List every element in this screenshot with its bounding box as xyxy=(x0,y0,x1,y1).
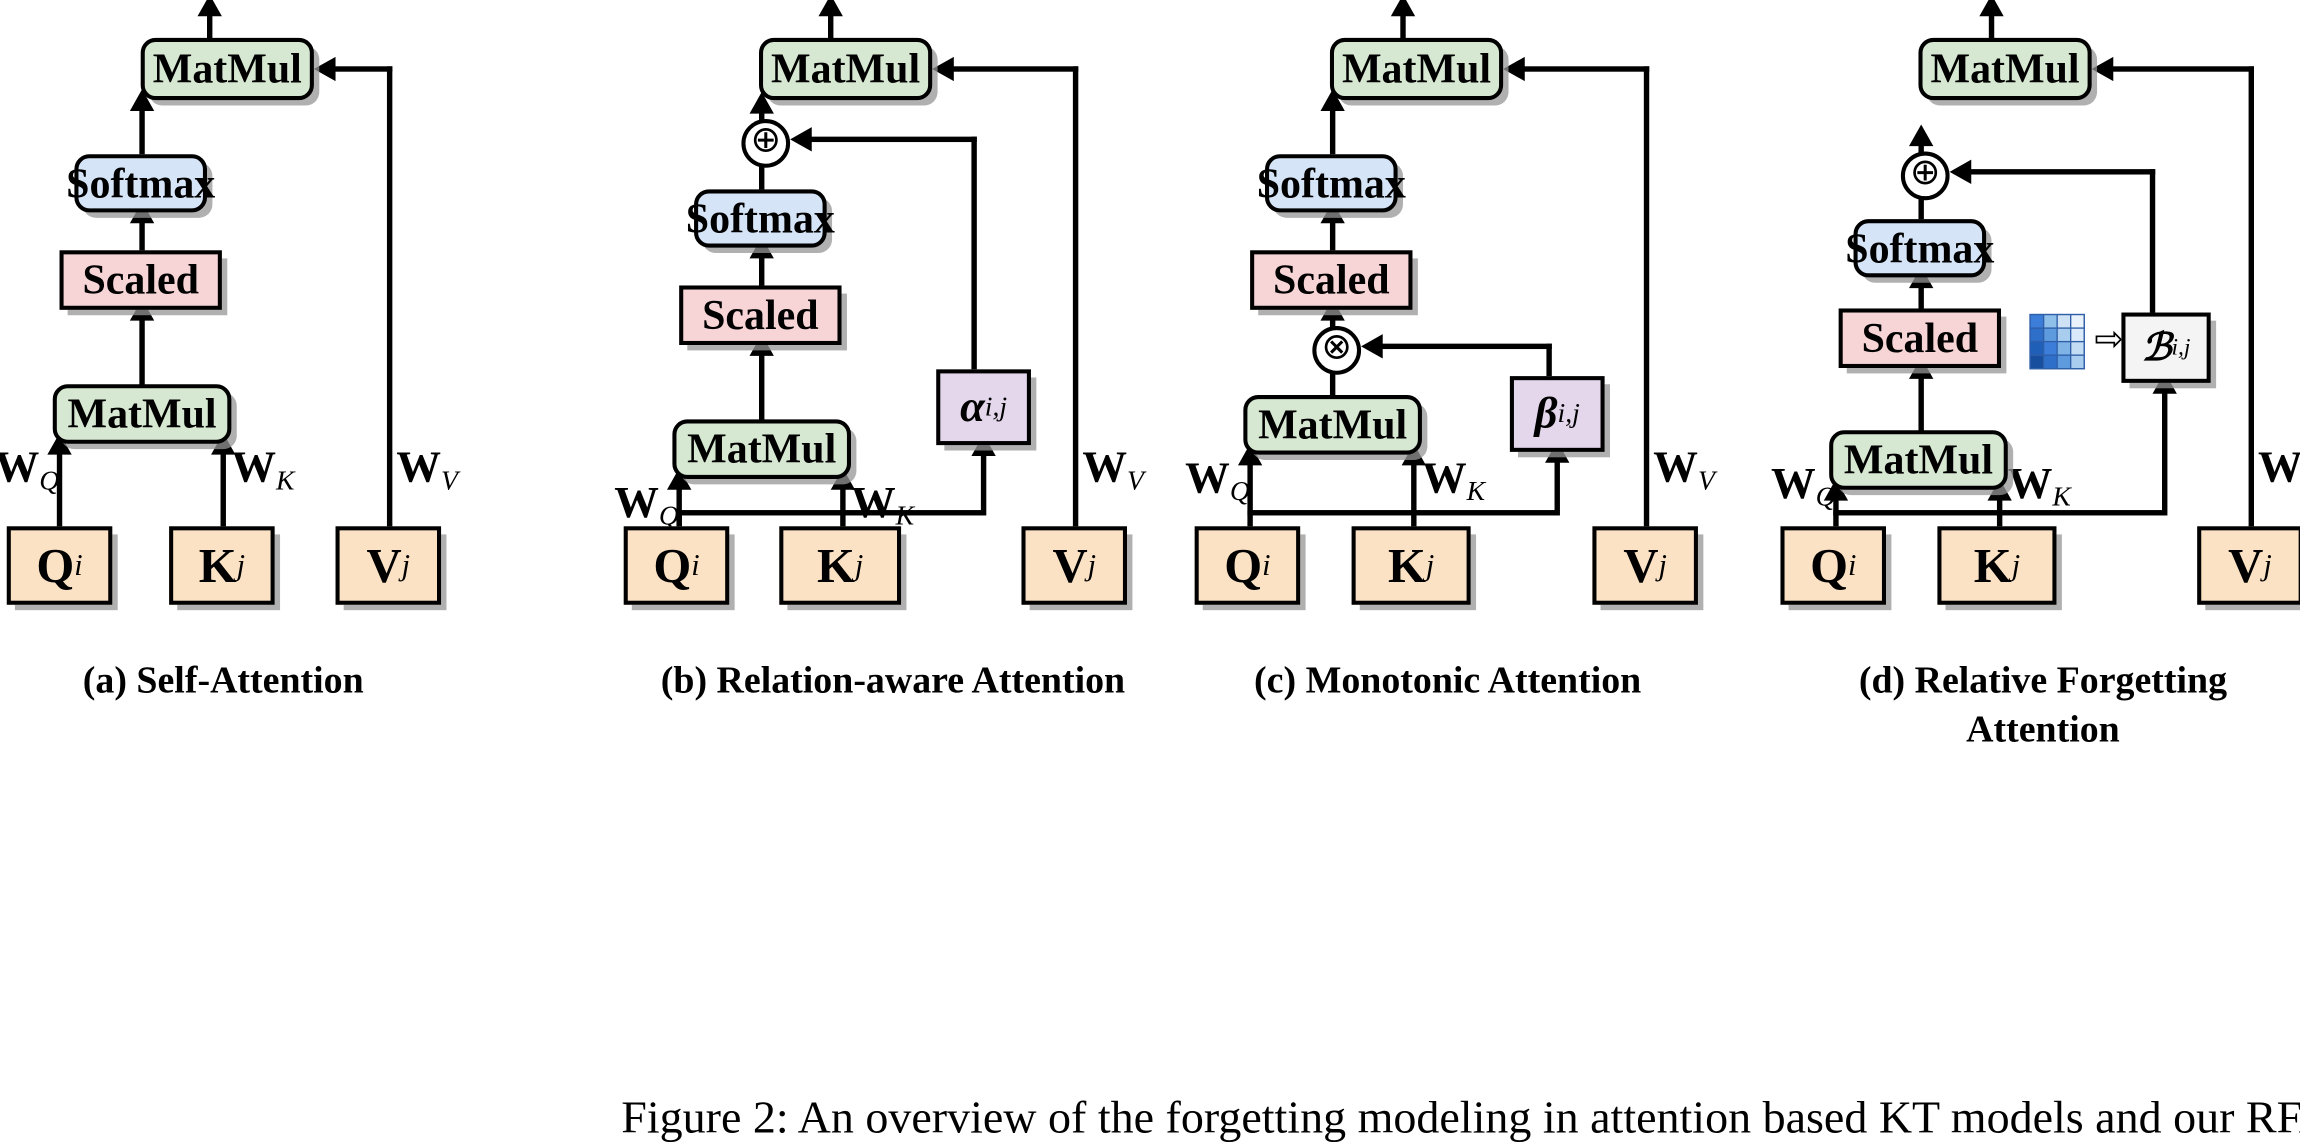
heatmap-cell-1-3 xyxy=(2071,329,2083,341)
heatmap-cell-1-2 xyxy=(2058,329,2070,341)
wv-symbol-d: W xyxy=(2258,444,2300,493)
edge-c-v-horizontal xyxy=(1519,66,1649,71)
node-a-softmax[interactable]: Softmax xyxy=(74,154,207,212)
node-a-matmul-bottom[interactable]: MatMul xyxy=(53,384,232,444)
edge-d-v-vertical xyxy=(2249,66,2254,527)
arrowhead-a-output xyxy=(198,0,222,16)
wq-symbol-d: W xyxy=(1771,460,1816,509)
label-d-wk: WK xyxy=(2008,460,2071,514)
figure-canvas: MatMul Softmax Scaled MatMul WQ WK WV Qi… xyxy=(0,0,2300,866)
node-d-k[interactable]: Kj xyxy=(1937,526,2056,604)
wv-symbol-b: W xyxy=(1082,444,1127,493)
edge-d-scriptb-in xyxy=(2162,383,2167,516)
v-symbol: V xyxy=(366,537,401,594)
edge-b-v-vertical xyxy=(1073,66,1078,527)
wk-symbol-b: W xyxy=(851,479,896,528)
wk-symbol-c: W xyxy=(1422,455,1467,504)
heatmap-cell-2-1 xyxy=(2044,342,2056,354)
label-a-wq: WQ xyxy=(0,444,59,498)
caption-panel-d-line2: Attention xyxy=(1786,706,2300,754)
node-c-softmax[interactable]: Softmax xyxy=(1265,154,1398,212)
wq-subscript: Q xyxy=(39,466,59,496)
wq-symbol-c: W xyxy=(1185,455,1230,504)
heatmap-cell-2-0 xyxy=(2031,342,2043,354)
heatmap-cell-3-1 xyxy=(2044,356,2056,368)
node-c-q[interactable]: Qi xyxy=(1195,526,1301,604)
node-d-v[interactable]: Vj xyxy=(2197,526,2300,604)
node-a-k[interactable]: Kj xyxy=(169,526,275,604)
label-d-wv: WV xyxy=(2258,444,2300,498)
q-subscript-b: i xyxy=(691,548,699,583)
node-b-scaled[interactable]: Scaled xyxy=(679,285,841,345)
k-subscript-b: j xyxy=(855,548,863,583)
wk-symbol: W xyxy=(231,444,276,493)
heatmap-cell-3-2 xyxy=(2058,356,2070,368)
caption-panel-b: (b) Relation-aware Attention xyxy=(616,658,1171,706)
scriptb-symbol: ℬ xyxy=(2142,325,2172,371)
arrowhead-d-plus-matmul xyxy=(1909,124,1933,146)
node-c-matmul-top[interactable]: MatMul xyxy=(1330,38,1503,100)
node-a-scaled[interactable]: Scaled xyxy=(60,250,222,310)
caption-panel-d-line1: (d) Relative Forgetting xyxy=(1786,658,2300,706)
wq-subscript-d: Q xyxy=(1816,483,1836,513)
caption-panel-a: (a) Self-Attention xyxy=(0,658,446,706)
alpha-symbol: α xyxy=(960,382,985,432)
k-symbol: K xyxy=(199,537,237,594)
heatmap-cell-3-0 xyxy=(2031,356,2043,368)
arrowhead-b-output xyxy=(819,0,843,16)
wv-symbol: W xyxy=(396,444,441,493)
edge-d-scriptb-plus-h xyxy=(1966,169,2155,174)
arrowhead-a-v xyxy=(314,57,336,81)
edge-c-beta-times-h xyxy=(1377,344,1552,349)
node-c-scaled[interactable]: Scaled xyxy=(1250,250,1412,310)
wq-symbol-b: W xyxy=(614,479,659,528)
v-subscript-b: j xyxy=(1088,548,1096,583)
arrowhead-b-alpha-plus xyxy=(790,127,812,151)
v-subscript-c: j xyxy=(1659,548,1667,583)
edge-c-junction xyxy=(1247,510,1557,515)
heatmap-matrix-icon xyxy=(2029,314,2084,369)
wv-subscript: V xyxy=(441,466,458,496)
times-operator-c[interactable]: ⊗ xyxy=(1312,326,1361,375)
heatmap-cell-2-3 xyxy=(2071,342,2083,354)
wk-subscript-c: K xyxy=(1467,477,1485,507)
heatmap-cell-0-2 xyxy=(2058,315,2070,327)
wv-subscript-b: V xyxy=(1127,466,1144,496)
node-b-matmul-top[interactable]: MatMul xyxy=(759,38,932,100)
arrowhead-c-output xyxy=(1391,0,1415,16)
edge-b-alpha-plus-v xyxy=(971,137,976,370)
k-subscript-c: j xyxy=(1426,548,1434,583)
k-subscript-d: j xyxy=(2012,548,2020,583)
edge-a-v-horizontal xyxy=(330,66,392,71)
edge-a-k xyxy=(221,444,226,528)
node-d-softmax[interactable]: Softmax xyxy=(1854,219,1987,277)
v-subscript-d: j xyxy=(2263,548,2271,583)
node-a-v[interactable]: Vj xyxy=(336,526,442,604)
beta-subscript: i,j xyxy=(1558,398,1580,429)
heatmap-cell-2-2 xyxy=(2058,342,2070,354)
node-d-matmul-top[interactable]: MatMul xyxy=(1918,38,2091,100)
node-b-q[interactable]: Qi xyxy=(624,526,730,604)
v-symbol-d: V xyxy=(2228,537,2263,594)
label-b-wq: WQ xyxy=(614,479,679,533)
edge-b-alpha-plus-h xyxy=(806,137,976,142)
label-c-wk: WK xyxy=(1422,455,1485,509)
node-d-scaled[interactable]: Scaled xyxy=(1839,308,2001,368)
arrowhead-d-output xyxy=(1979,0,2003,16)
label-b-wk: WK xyxy=(851,479,914,533)
q-symbol-b: Q xyxy=(653,537,691,594)
heatmap-cell-1-1 xyxy=(2044,329,2056,341)
node-b-matmul-bottom[interactable]: MatMul xyxy=(672,419,851,479)
k-symbol-b: K xyxy=(817,537,855,594)
heatmap-cell-0-0 xyxy=(2031,315,2043,327)
beta-symbol: β xyxy=(1535,389,1558,439)
plus-glyph-b: ⊕ xyxy=(750,121,781,158)
heatmap-cell-0-1 xyxy=(2044,315,2056,327)
edge-d-scriptb-plus-v xyxy=(2150,169,2155,314)
label-c-wv: WV xyxy=(1653,444,1715,498)
q-symbol-c: Q xyxy=(1224,537,1262,594)
node-c-v[interactable]: Vj xyxy=(1592,526,1698,604)
wq-subscript-c: Q xyxy=(1230,477,1250,507)
node-d-q[interactable]: Qi xyxy=(1780,526,1886,604)
edge-b-matmul-scaled xyxy=(759,345,764,421)
implies-arrow-icon: ⇨ xyxy=(2094,319,2123,360)
q-subscript: i xyxy=(74,548,82,583)
edge-c-k xyxy=(1411,455,1416,528)
edge-a-matmul-scaled xyxy=(139,310,144,386)
edge-c-beta-times-v xyxy=(1546,344,1551,376)
edge-c-v-vertical xyxy=(1644,66,1649,527)
v-symbol-c: V xyxy=(1623,537,1658,594)
arrowhead-d-scriptb-plus xyxy=(1950,160,1972,184)
alpha-subscript: i,j xyxy=(985,392,1007,423)
wq-symbol: W xyxy=(0,444,39,493)
times-glyph-c: ⊗ xyxy=(1321,328,1352,365)
node-c-beta[interactable]: βi,j xyxy=(1510,376,1605,452)
heatmap-cell-1-0 xyxy=(2031,329,2043,341)
edge-a-v-vertical xyxy=(387,66,392,527)
wk-symbol-d: W xyxy=(2008,460,2053,509)
k-symbol-d: K xyxy=(1974,537,2012,594)
q-subscript-c: i xyxy=(1262,548,1270,583)
wk-subscript-d: K xyxy=(2052,483,2070,513)
plus-glyph-d: ⊕ xyxy=(1910,154,1941,191)
q-subscript-d: i xyxy=(1848,548,1856,583)
plus-operator-d[interactable]: ⊕ xyxy=(1901,152,1950,201)
node-c-k[interactable]: Kj xyxy=(1352,526,1471,604)
label-d-wq: WQ xyxy=(1771,460,1836,514)
edge-b-junction xyxy=(676,510,983,515)
label-a-wv: WV xyxy=(396,444,458,498)
wk-subscript: K xyxy=(276,466,294,496)
node-b-softmax[interactable]: Softmax xyxy=(694,189,827,247)
heatmap-cell-0-3 xyxy=(2071,315,2083,327)
v-subscript: j xyxy=(402,548,410,583)
arrowhead-d-v xyxy=(2092,57,2114,81)
node-b-k[interactable]: Kj xyxy=(779,526,901,604)
node-b-alpha[interactable]: αi,j xyxy=(936,369,1031,445)
k-symbol-c: K xyxy=(1388,537,1426,594)
caption-panel-c: (c) Monotonic Attention xyxy=(1191,658,1705,706)
v-symbol-b: V xyxy=(1052,537,1087,594)
wv-symbol-c: W xyxy=(1653,444,1698,493)
edge-b-v-horizontal xyxy=(948,66,1078,71)
wv-subscript-c: V xyxy=(1698,466,1715,496)
node-d-matmul-bottom[interactable]: MatMul xyxy=(1829,430,2008,490)
q-symbol-d: Q xyxy=(1810,537,1848,594)
k-subscript: j xyxy=(237,548,245,583)
node-b-v[interactable]: Vj xyxy=(1021,526,1127,604)
q-symbol: Q xyxy=(36,537,74,594)
arrowhead-b-v xyxy=(932,57,954,81)
arrowhead-c-v xyxy=(1503,57,1525,81)
node-a-matmul-top[interactable]: MatMul xyxy=(141,38,314,100)
heatmap-cell-3-3 xyxy=(2071,356,2083,368)
node-c-matmul-bottom[interactable]: MatMul xyxy=(1243,395,1422,455)
edge-d-v-horizontal xyxy=(2108,66,2254,71)
label-a-wk: WK xyxy=(231,444,294,498)
label-c-wq: WQ xyxy=(1185,455,1250,509)
node-a-q[interactable]: Qi xyxy=(7,526,113,604)
node-d-script-b[interactable]: ℬi,j xyxy=(2121,313,2210,383)
figure-caption: Figure 2: An overview of the forgetting … xyxy=(0,1093,2300,1144)
scriptb-subscript: i,j xyxy=(2171,334,2190,361)
plus-operator-b[interactable]: ⊕ xyxy=(741,119,790,168)
label-b-wv: WV xyxy=(1082,444,1144,498)
arrowhead-c-beta-times xyxy=(1361,334,1383,358)
